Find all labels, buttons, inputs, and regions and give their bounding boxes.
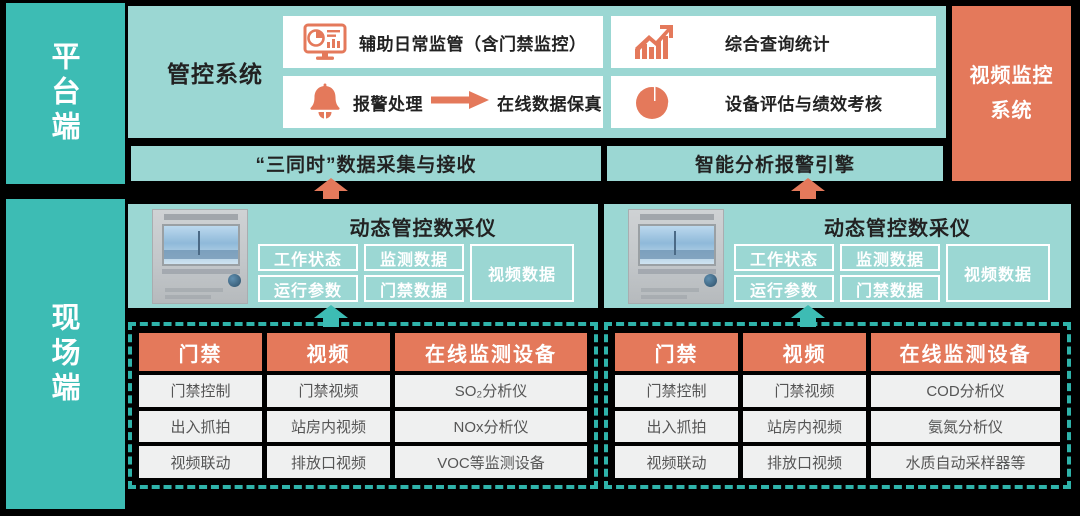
chip-video-data-left[interactable]: 视频数据 bbox=[470, 244, 574, 302]
video-system-line1: 视频监控 bbox=[970, 59, 1054, 94]
site-side-label: 现场端 bbox=[48, 302, 77, 407]
platform-inner: 管控系统 bbox=[125, 3, 1074, 184]
video-surveillance-system-box[interactable]: 视频监控 系统 bbox=[952, 6, 1071, 181]
card-query-statistics-label: 综合查询统计 bbox=[725, 30, 830, 55]
table-column-online-left: 在线监测设备 SO₂分析仪 NOx分析仪 VOC等监测设备 bbox=[395, 333, 587, 478]
table-cell: VOC等监测设备 bbox=[395, 446, 587, 478]
table-header-access-right: 门禁 bbox=[615, 333, 738, 371]
table-header-video-right: 视频 bbox=[743, 333, 866, 371]
table-cell: 门禁视频 bbox=[267, 375, 390, 407]
card-daily-supervision-label: 辅助日常监管（含门禁监控） bbox=[359, 30, 587, 55]
chip-run-params-right[interactable]: 运行参数 bbox=[734, 275, 834, 302]
table-cell: 视频联动 bbox=[615, 446, 738, 478]
data-collector-cabinet-photo-left bbox=[152, 209, 248, 304]
card-alarm-handling[interactable]: 报警处理 在线数据保真 bbox=[283, 76, 603, 128]
device-chips-left: 工作状态 监测数据 运行参数 门禁数据 视频数据 bbox=[258, 244, 590, 302]
table-header-online-right: 在线监测设备 bbox=[871, 333, 1060, 371]
card-query-statistics[interactable]: 综合查询统计 bbox=[611, 16, 936, 68]
table-cell: 站房内视频 bbox=[743, 411, 866, 443]
device-chips-right: 工作状态 监测数据 运行参数 门禁数据 视频数据 bbox=[734, 244, 1063, 302]
strip-data-collection: “三同时”数据采集与接收 bbox=[131, 146, 601, 181]
management-system-title: 管控系统 bbox=[150, 6, 280, 138]
platform-band: 平台端 管控系统 bbox=[6, 3, 1074, 184]
management-system-row: 管控系统 bbox=[128, 6, 946, 138]
video-system-line2: 系统 bbox=[970, 94, 1054, 129]
table-column-online-right: 在线监测设备 COD分析仪 氨氮分析仪 水质自动采样器等 bbox=[871, 333, 1060, 478]
teal-up-arrow-left bbox=[314, 305, 348, 327]
table-cell: COD分析仪 bbox=[871, 375, 1060, 407]
table-column-video-left: 视频 门禁视频 站房内视频 排放口视频 bbox=[267, 333, 390, 478]
table-cell: 氨氮分析仪 bbox=[871, 411, 1060, 443]
arrow-right-icon bbox=[431, 90, 489, 115]
teal-up-arrow-right bbox=[791, 305, 825, 327]
trend-up-bar-icon bbox=[625, 21, 681, 63]
table-cell: 出入抓拍 bbox=[139, 411, 262, 443]
chip-work-status-left[interactable]: 工作状态 bbox=[258, 244, 358, 271]
table-cell: NOx分析仪 bbox=[395, 411, 587, 443]
table-column-access-left: 门禁 门禁控制 出入抓拍 视频联动 bbox=[139, 333, 262, 478]
table-cell: 水质自动采样器等 bbox=[871, 446, 1060, 478]
table-cell: 排放口视频 bbox=[267, 446, 390, 478]
table-cell: 排放口视频 bbox=[743, 446, 866, 478]
bell-icon bbox=[297, 81, 353, 123]
table-cell: 门禁控制 bbox=[615, 375, 738, 407]
site-inner: 动态管控数采仪 工作状态 监测数据 运行参数 门禁数据 视频数据 bbox=[125, 199, 1074, 509]
table-cell: 出入抓拍 bbox=[615, 411, 738, 443]
orange-up-arrow-right bbox=[791, 178, 825, 200]
platform-main-panel: 管控系统 bbox=[128, 6, 946, 181]
diagram-canvas: 平台端 管控系统 bbox=[0, 0, 1080, 516]
chip-access-data-right[interactable]: 门禁数据 bbox=[840, 275, 940, 302]
monitor-chart-icon bbox=[297, 21, 353, 63]
card-alarm-handling-label: 报警处理 bbox=[353, 90, 423, 115]
table-header-online-left: 在线监测设备 bbox=[395, 333, 587, 371]
site-table-right: 门禁 门禁控制 出入抓拍 视频联动 视频 门禁视频 站房内视频 排放口视频 在线… bbox=[604, 322, 1071, 489]
card-device-assessment-label: 设备评估与绩效考核 bbox=[725, 90, 883, 115]
table-header-video-left: 视频 bbox=[267, 333, 390, 371]
data-collector-cabinet-photo-right bbox=[628, 209, 724, 304]
chip-work-status-right[interactable]: 工作状态 bbox=[734, 244, 834, 271]
card-online-data-fidelity-label: 在线数据保真 bbox=[497, 90, 602, 115]
table-cell: 视频联动 bbox=[139, 446, 262, 478]
site-side-label-box: 现场端 bbox=[6, 199, 119, 509]
device-panel-right: 动态管控数采仪 工作状态 监测数据 运行参数 门禁数据 视频数据 bbox=[604, 204, 1071, 308]
chip-run-params-left[interactable]: 运行参数 bbox=[258, 275, 358, 302]
device-title-left: 动态管控数采仪 bbox=[258, 212, 588, 241]
card-device-assessment[interactable]: 设备评估与绩效考核 bbox=[611, 76, 936, 128]
table-column-access-right: 门禁 门禁控制 出入抓拍 视频联动 bbox=[615, 333, 738, 478]
table-cell: 门禁视频 bbox=[743, 375, 866, 407]
pie-chart-icon bbox=[625, 81, 681, 123]
chip-monitor-data-right[interactable]: 监测数据 bbox=[840, 244, 940, 271]
platform-side-label: 平台端 bbox=[48, 41, 77, 146]
strip-alarm-engine: 智能分析报警引擎 bbox=[607, 146, 943, 181]
chip-monitor-data-left[interactable]: 监测数据 bbox=[364, 244, 464, 271]
table-cell: 门禁控制 bbox=[139, 375, 262, 407]
site-table-left: 门禁 门禁控制 出入抓拍 视频联动 视频 门禁视频 站房内视频 排放口视频 在线… bbox=[128, 322, 598, 489]
chip-video-data-right[interactable]: 视频数据 bbox=[946, 244, 1050, 302]
table-column-video-right: 视频 门禁视频 站房内视频 排放口视频 bbox=[743, 333, 866, 478]
device-panel-left: 动态管控数采仪 工作状态 监测数据 运行参数 门禁数据 视频数据 bbox=[128, 204, 598, 308]
card-daily-supervision[interactable]: 辅助日常监管（含门禁监控） bbox=[283, 16, 603, 68]
platform-side-label-box: 平台端 bbox=[6, 3, 119, 184]
table-header-access-left: 门禁 bbox=[139, 333, 262, 371]
chip-access-data-left[interactable]: 门禁数据 bbox=[364, 275, 464, 302]
device-title-right: 动态管控数采仪 bbox=[734, 212, 1061, 241]
table-cell: 站房内视频 bbox=[267, 411, 390, 443]
orange-up-arrow-left bbox=[314, 178, 348, 200]
site-band: 现场端 动态管控数采仪 工作状态 监测数据 运行参数 门禁数据 bbox=[6, 199, 1074, 509]
table-cell: SO₂分析仪 bbox=[395, 375, 587, 407]
